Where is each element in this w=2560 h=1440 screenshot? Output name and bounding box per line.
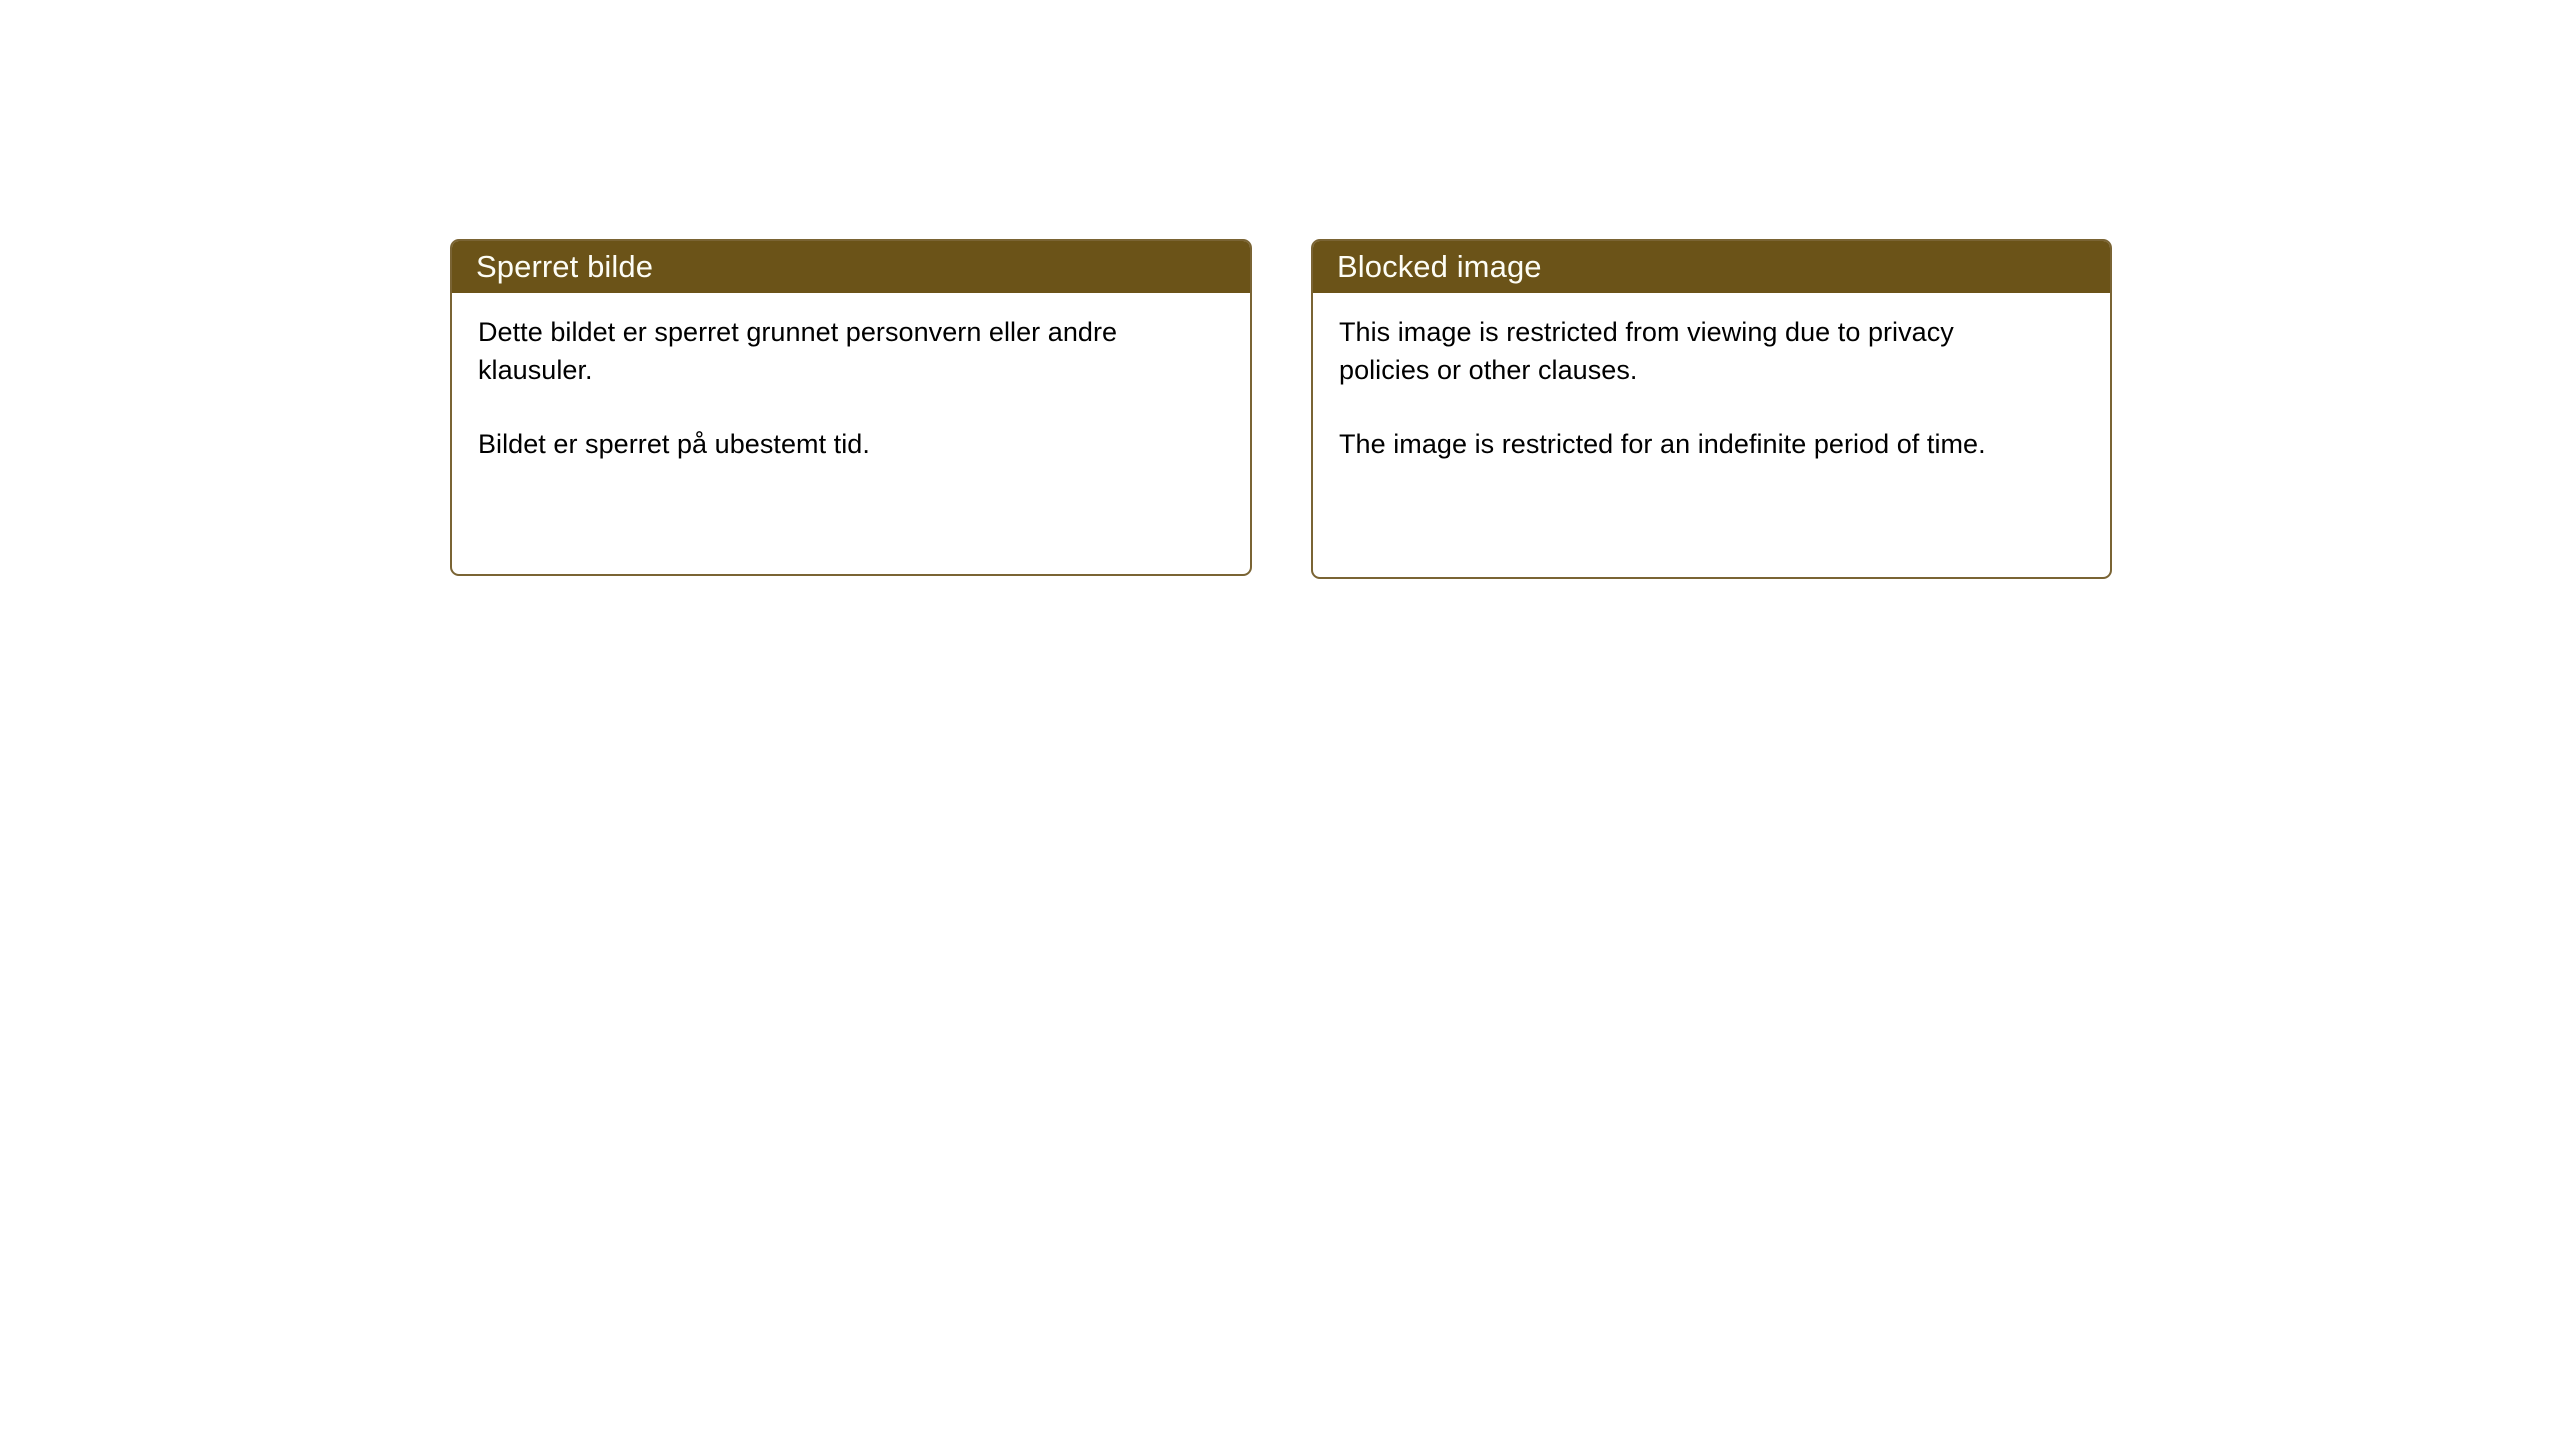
card-paragraph-duration-norwegian: Bildet er sperret på ubestemt tid. [478, 425, 1178, 463]
paragraph-spacer [478, 389, 1228, 425]
card-header-norwegian: Sperret bilde [452, 241, 1250, 293]
page-canvas: Sperret bilde Dette bildet er sperret gr… [0, 0, 2560, 1440]
card-paragraph-reason-english: This image is restricted from viewing du… [1339, 313, 2039, 389]
card-paragraph-duration-english: The image is restricted for an indefinit… [1339, 425, 2039, 463]
card-paragraph-reason-norwegian: Dette bildet er sperret grunnet personve… [478, 313, 1178, 389]
card-title-norwegian: Sperret bilde [476, 250, 653, 284]
card-body-norwegian: Dette bildet er sperret grunnet personve… [452, 293, 1250, 463]
card-title-english: Blocked image [1337, 250, 1542, 284]
card-body-english: This image is restricted from viewing du… [1313, 293, 2110, 463]
blocked-image-notice-card-english: Blocked image This image is restricted f… [1311, 239, 2112, 579]
card-header-english: Blocked image [1313, 241, 2110, 293]
paragraph-spacer [1339, 389, 2088, 425]
blocked-image-notice-card-norwegian: Sperret bilde Dette bildet er sperret gr… [450, 239, 1252, 576]
